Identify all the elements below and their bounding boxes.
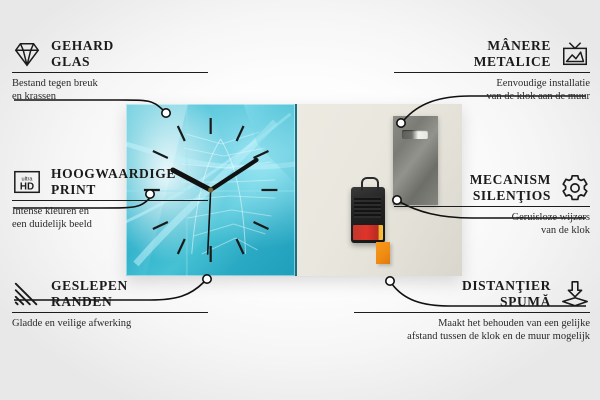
feature-title: GEHARD GLAS xyxy=(51,38,114,69)
feature-description-line2: en krassen xyxy=(12,90,208,103)
feature-header: MECANISM SILENŢIOS xyxy=(394,172,590,203)
feature-header: ultra HD HOOGWAARDIGE PRINT xyxy=(12,166,208,197)
feature-header: DISTANŢIER SPUMĂ xyxy=(354,278,590,309)
feature-title: DISTANŢIER SPUMĂ xyxy=(462,278,551,309)
feature-divider xyxy=(354,312,590,313)
feature-title: MECANISM SILENŢIOS xyxy=(470,172,551,203)
feature-divider xyxy=(394,72,590,73)
hanger-loop xyxy=(361,177,378,190)
feature-description-line1: Maakt het behouden van een gelijke xyxy=(354,317,590,330)
battery xyxy=(353,225,383,240)
foam-spacer xyxy=(376,242,389,264)
feature-description-line1: Eenvoudige installatie xyxy=(394,77,590,90)
feature-title: GESLEPEN RANDEN xyxy=(51,278,128,309)
feature-description-line1: Gladde en veilige afwerking xyxy=(12,317,208,330)
picture-frame-icon xyxy=(560,39,590,69)
beveled-edge-icon xyxy=(12,279,42,309)
feature-divider xyxy=(12,200,208,201)
feature-distantier-spuma: DISTANŢIER SPUMĂ Maakt het behouden van … xyxy=(354,278,590,343)
feature-description-line2: afstand tussen de klok en de muur mogeli… xyxy=(354,330,590,343)
feature-header: MÂNERE METALICE xyxy=(394,38,590,69)
diamond-icon xyxy=(12,39,42,69)
ultra-hd-icon: ultra HD xyxy=(12,167,42,197)
quartz-movement-box xyxy=(351,187,385,244)
feature-geslepen-randen: GESLEPEN RANDEN Gladde en veilige afwerk… xyxy=(12,278,208,330)
infographic-canvas: GEHARD GLAS Bestand tegen breuk en krass… xyxy=(0,0,600,400)
feature-header: GESLEPEN RANDEN xyxy=(12,278,208,309)
feature-divider xyxy=(12,312,208,313)
feature-manere-metalice: MÂNERE METALICE Eenvoudige installatie v… xyxy=(394,38,590,103)
hanger-slot xyxy=(402,130,427,139)
feature-title: HOOGWAARDIGE PRINT xyxy=(51,166,176,197)
feature-divider xyxy=(394,206,590,207)
feature-header: GEHARD GLAS xyxy=(12,38,208,69)
feature-hoogwaardige-print: ultra HD HOOGWAARDIGE PRINT Intense kleu… xyxy=(12,166,208,231)
feature-title: MÂNERE METALICE xyxy=(474,38,551,69)
down-arrow-layer-icon xyxy=(560,279,590,309)
feature-description-line2: een duidelijk beeld xyxy=(12,218,208,231)
feature-description-line1: Bestand tegen breuk xyxy=(12,77,208,90)
gear-icon xyxy=(560,173,590,203)
feature-description-line2: van de klok aan de muur xyxy=(394,90,590,103)
svg-text:HD: HD xyxy=(20,181,34,192)
feature-divider xyxy=(12,72,208,73)
feature-mecanism-silentios: MECANISM SILENŢIOS Geruisloze wijzers va… xyxy=(394,172,590,237)
feature-description-line2: van de klok xyxy=(394,224,590,237)
feature-gehard-glas: GEHARD GLAS Bestand tegen breuk en krass… xyxy=(12,38,208,103)
feature-description-line1: Geruisloze wijzers xyxy=(394,211,590,224)
feature-description-line1: Intense kleuren en xyxy=(12,205,208,218)
movement-grill xyxy=(354,196,381,219)
